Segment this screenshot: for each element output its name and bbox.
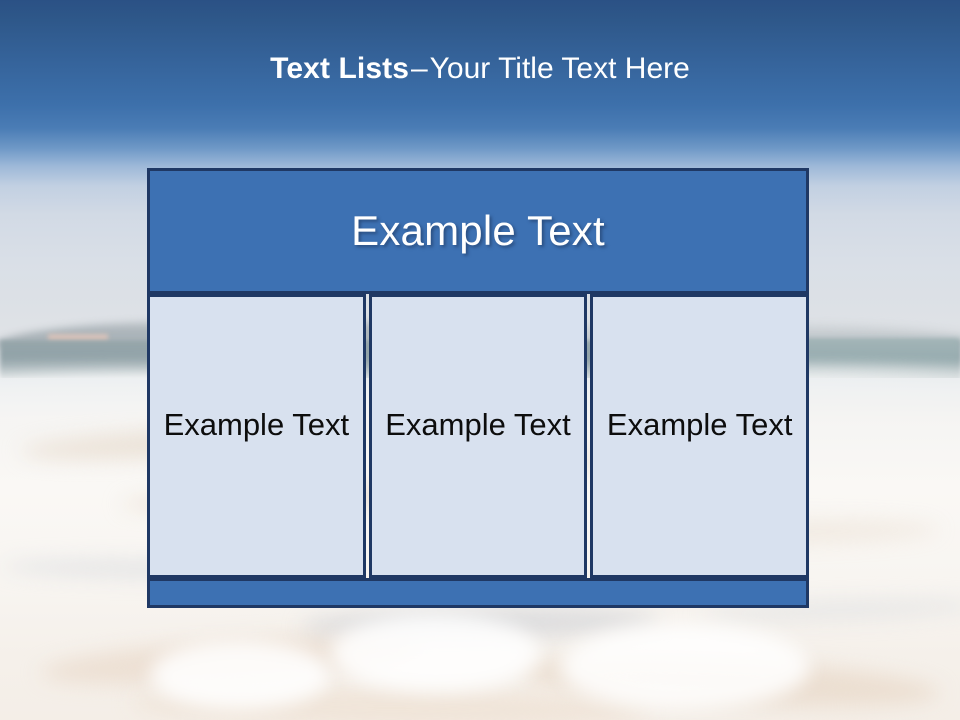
diagram-column-1-label: Example Text [154,403,360,447]
slide-canvas: Text Lists–Your Title Text Here Example … [0,0,960,720]
diagram-header-bar[interactable]: Example Text [147,168,809,294]
diagram-header-label: Example Text [351,207,605,255]
diagram-column-2-label: Example Text [375,403,581,447]
diagram-footer-bar[interactable] [147,578,809,608]
diagram-column-3[interactable]: Example Text [590,294,809,578]
text-list-diagram[interactable]: Example Text Example Text Example Text E… [147,168,809,608]
foam-splash [150,640,330,710]
page-title-separator: – [409,52,430,85]
page-title-strong: Text Lists [270,52,409,85]
diagram-column-3-label: Example Text [597,403,803,447]
foam-splash [560,624,810,710]
diagram-column-1[interactable]: Example Text [147,294,366,578]
diagram-columns: Example Text Example Text Example Text [147,294,809,578]
page-title-subtitle: Your Title Text Here [430,52,690,85]
foam-splash [330,614,540,692]
page-title: Text Lists–Your Title Text Here [0,52,960,86]
diagram-column-2[interactable]: Example Text [369,294,588,578]
